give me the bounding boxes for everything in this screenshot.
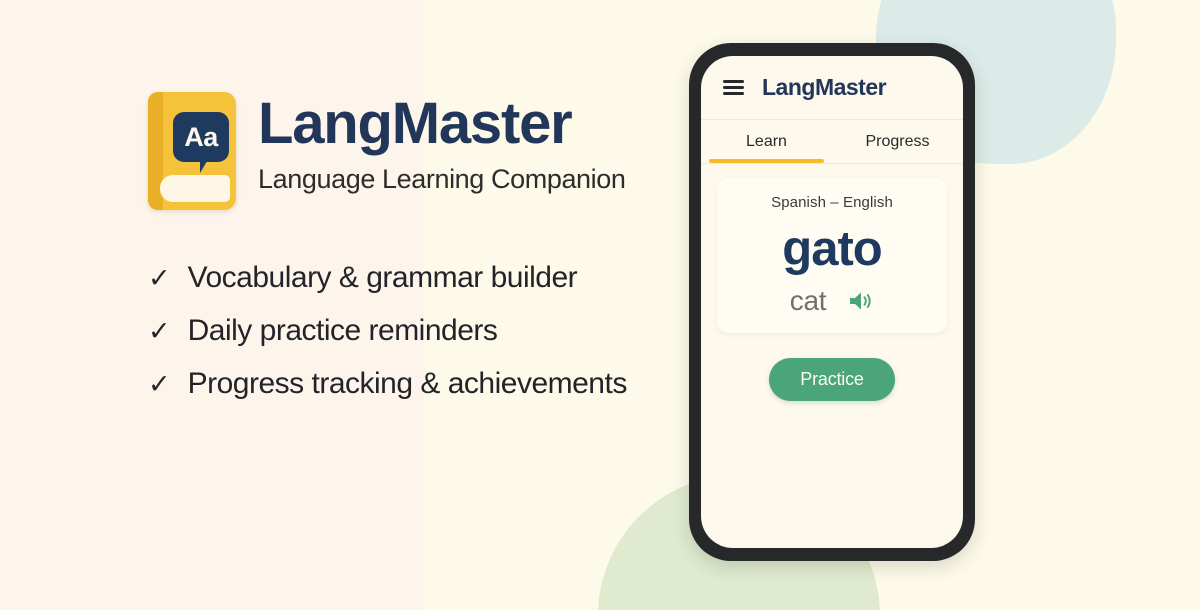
logo-letters: Aa — [184, 124, 218, 151]
list-item: ✓ Daily practice reminders — [148, 315, 688, 347]
language-pair-label: Spanish – English — [727, 194, 937, 211]
flashcard-translation-row: cat — [727, 287, 937, 315]
page-title: LangMaster — [258, 94, 626, 153]
practice-button[interactable]: Practice — [769, 358, 894, 401]
list-item: ✓ Vocabulary & grammar builder — [148, 262, 688, 294]
book-speech-bubble-icon: Aa — [148, 92, 236, 210]
app-bar: LangMaster — [701, 56, 963, 120]
feature-label: Daily practice reminders — [188, 315, 498, 347]
phone-mockup: LangMaster Learn Progress Spanish – Engl… — [689, 43, 975, 561]
check-icon: ✓ — [148, 265, 171, 292]
check-icon: ✓ — [148, 371, 171, 398]
tab-learn[interactable]: Learn — [701, 120, 832, 163]
hamburger-line — [723, 86, 744, 89]
hamburger-line — [723, 92, 744, 95]
tab-bar: Learn Progress — [701, 120, 963, 164]
brand-tagline: Language Learning Companion — [258, 164, 626, 195]
check-icon: ✓ — [148, 318, 171, 345]
feature-list: ✓ Vocabulary & grammar builder ✓ Daily p… — [148, 262, 688, 399]
marketing-panel: Aa LangMaster Language Learning Companio… — [148, 92, 688, 420]
brand-lockup: Aa LangMaster Language Learning Companio… — [148, 92, 688, 210]
feature-label: Vocabulary & grammar builder — [188, 262, 578, 294]
practice-button-row: Practice — [701, 358, 963, 401]
feature-label: Progress tracking & achievements — [188, 368, 627, 400]
flashcard[interactable]: Spanish – English gato cat — [717, 178, 947, 333]
hamburger-line — [723, 80, 744, 83]
app-title: LangMaster — [762, 74, 886, 101]
book-pages — [160, 175, 230, 202]
speech-bubble: Aa — [173, 112, 229, 162]
flashcard-translation: cat — [790, 287, 826, 315]
flashcard-word: gato — [727, 225, 937, 274]
promo-banner: Aa LangMaster Language Learning Companio… — [0, 0, 1200, 610]
phone-screen: LangMaster Learn Progress Spanish – Engl… — [701, 56, 963, 548]
hamburger-menu-icon[interactable] — [723, 80, 744, 95]
tab-progress[interactable]: Progress — [832, 120, 963, 163]
list-item: ✓ Progress tracking & achievements — [148, 368, 688, 400]
speaker-volume-icon[interactable] — [848, 290, 874, 312]
brand-text-block: LangMaster Language Learning Companion — [258, 92, 626, 195]
